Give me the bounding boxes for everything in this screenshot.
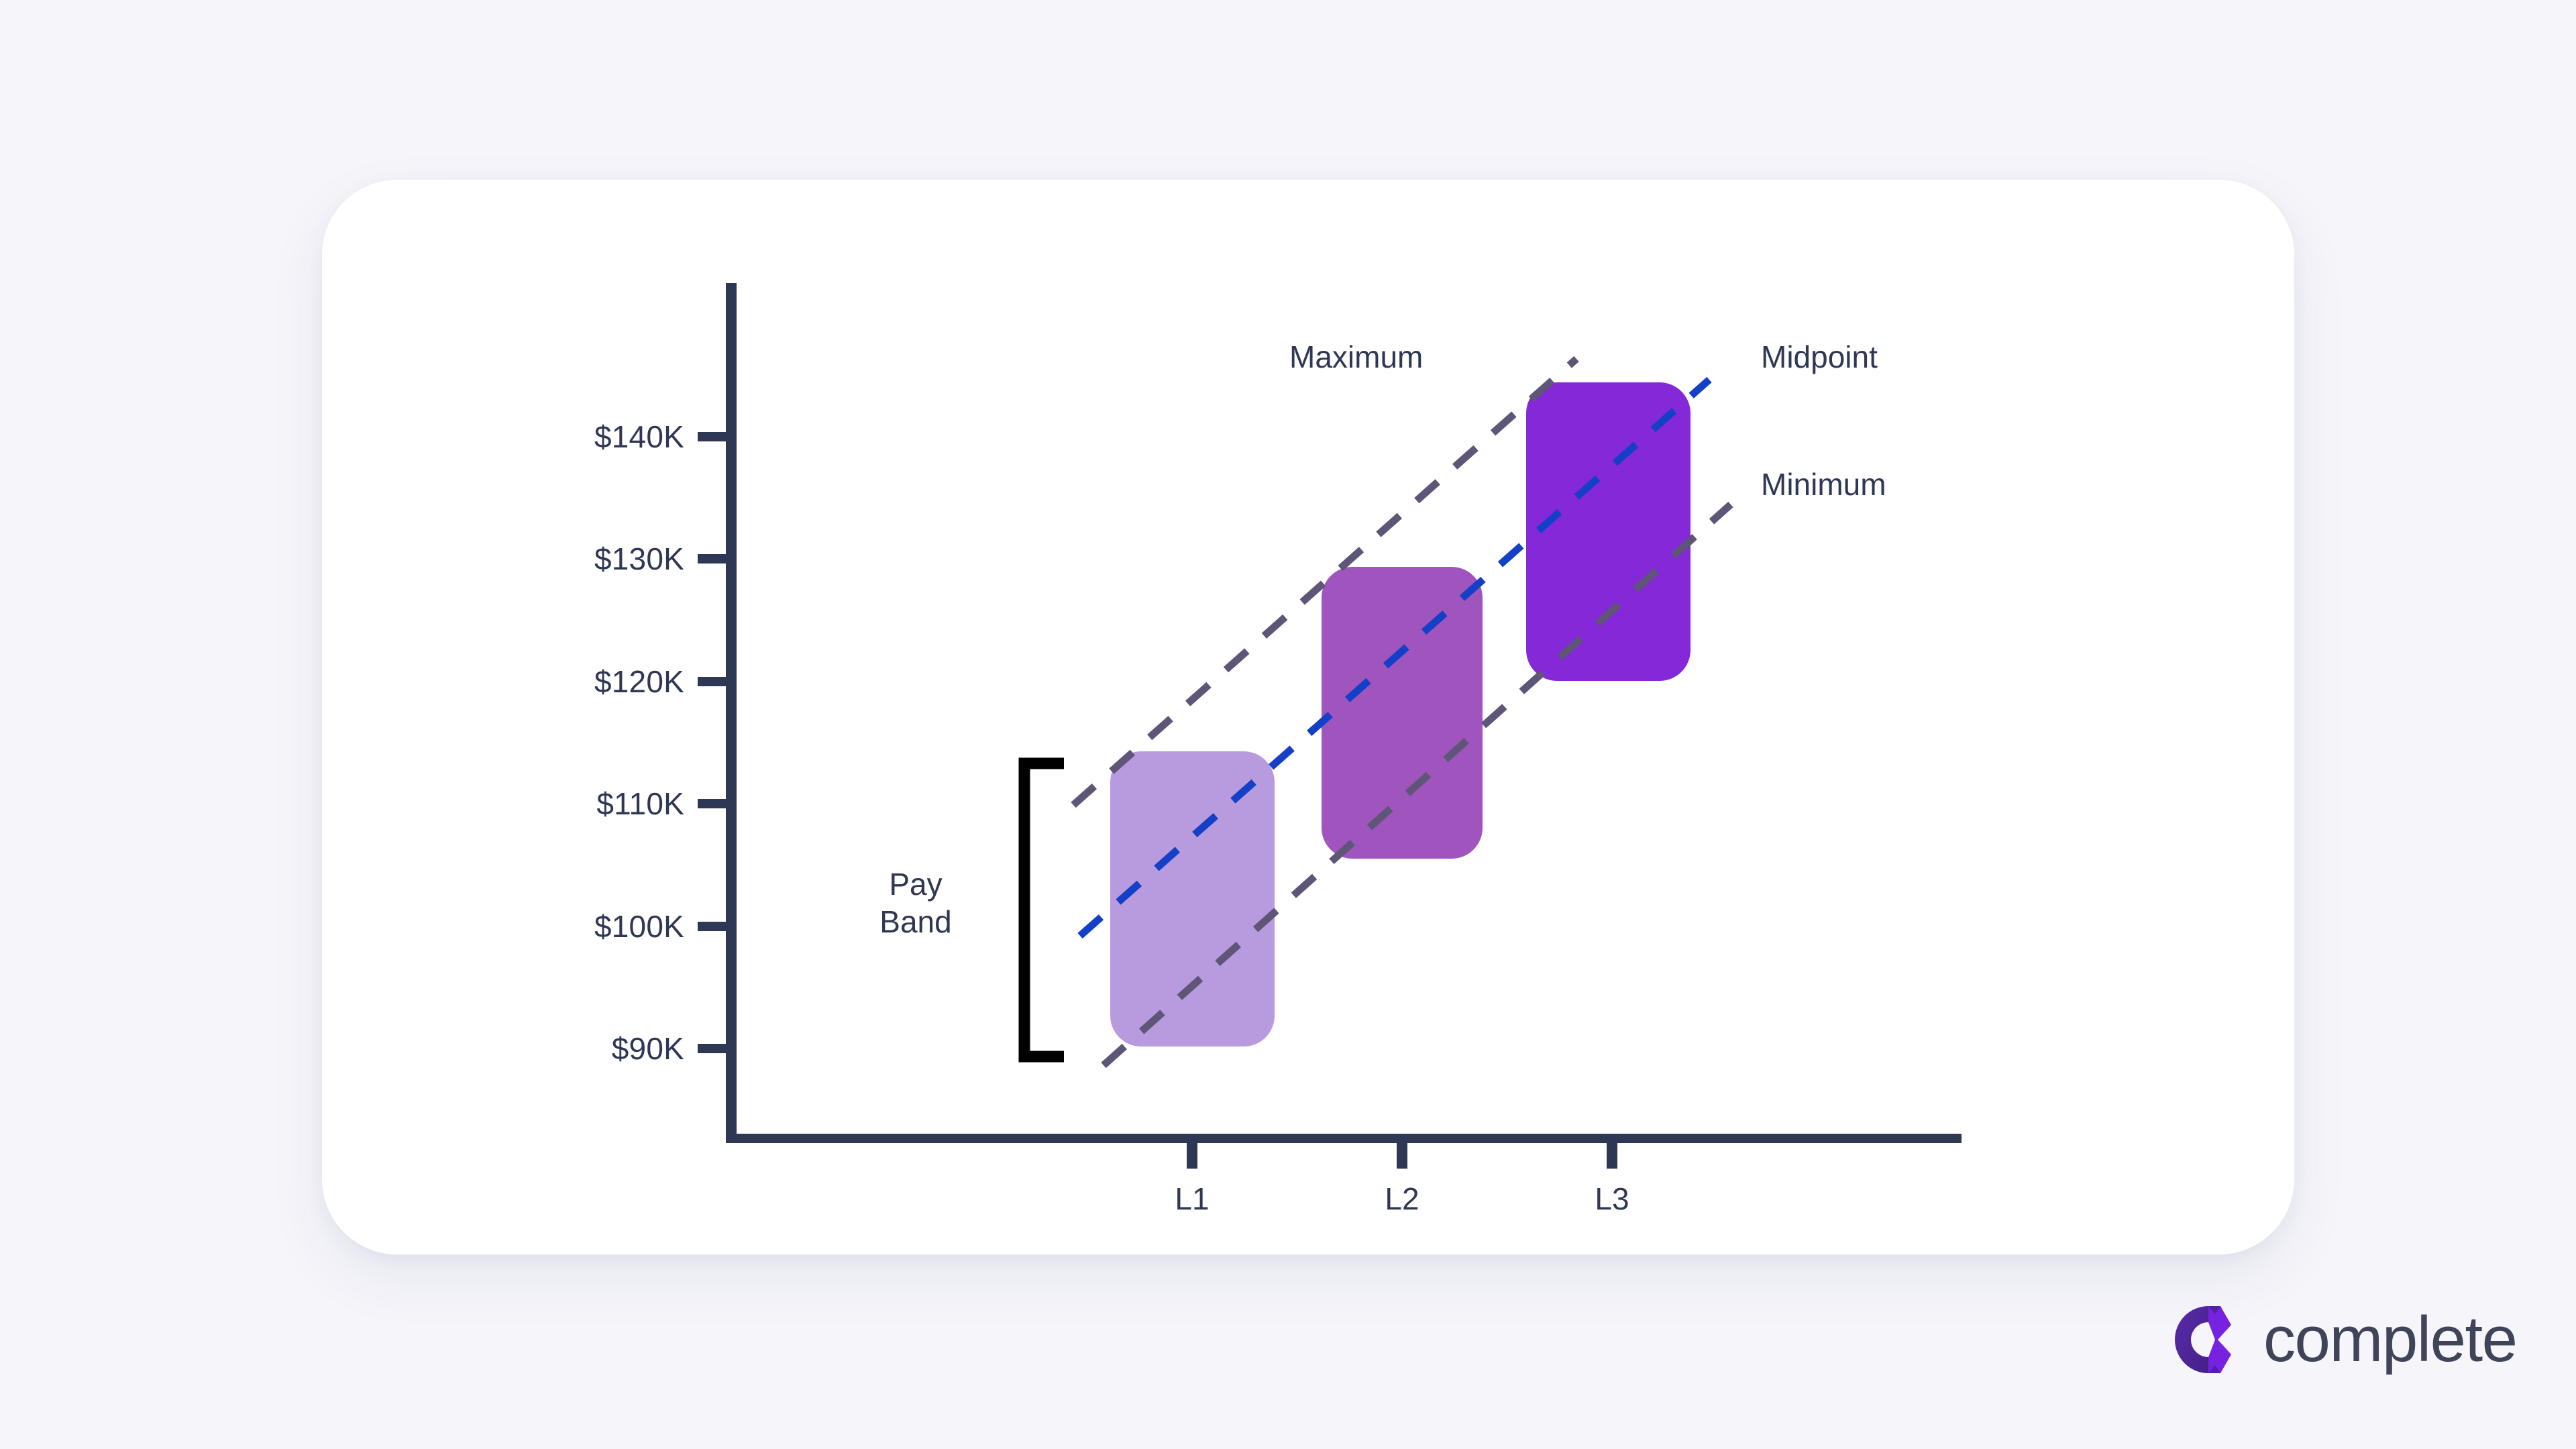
y-tick-100k <box>698 922 730 931</box>
screenshot-root: $140K $130K $120K $110K $100K $90K L1 L2… <box>0 0 2576 1449</box>
chart-card: $140K $130K $120K $110K $100K $90K L1 L2… <box>322 180 2294 1254</box>
y-axis-label-90k: $90K <box>523 1030 684 1067</box>
annotation-midpoint: Midpoint <box>1761 339 1878 375</box>
annotation-pay-band: Pay Band <box>815 865 1016 941</box>
x-tick-l1 <box>1187 1142 1197 1169</box>
x-axis-label-l2: L2 <box>1385 1181 1419 1217</box>
y-axis-line <box>726 283 737 1142</box>
y-tick-120k <box>698 677 730 686</box>
y-tick-140k <box>698 432 730 441</box>
bar-l2[interactable] <box>1322 567 1483 859</box>
y-tick-90k <box>698 1044 730 1053</box>
x-tick-l2 <box>1397 1142 1407 1169</box>
complete-c-logomark-icon <box>2173 1305 2243 1375</box>
pay-band-chart: $140K $130K $120K $110K $100K $90K L1 L2… <box>322 180 2294 1254</box>
pay-band-bracket <box>1024 763 1064 1057</box>
y-axis-label-130k: $130K <box>523 541 684 577</box>
annotation-minimum: Minimum <box>1761 466 1886 502</box>
bar-l1[interactable] <box>1110 751 1275 1046</box>
bar-series <box>1110 382 1690 1046</box>
x-axis-label-l1: L1 <box>1175 1181 1209 1217</box>
bar-l3[interactable] <box>1526 382 1690 681</box>
x-tick-l3 <box>1607 1142 1617 1169</box>
y-axis-label-100k: $100K <box>523 908 684 945</box>
y-tick-130k <box>698 554 730 563</box>
y-tick-110k <box>698 799 730 808</box>
x-axis-label-l3: L3 <box>1595 1181 1629 1217</box>
annotation-maximum: Maximum <box>1289 339 1423 375</box>
brand-logo: complete <box>2173 1305 2517 1375</box>
brand-wordmark: complete <box>2263 1307 2517 1372</box>
y-axis-label-140k: $140K <box>523 419 684 455</box>
x-axis-line <box>726 1134 1962 1143</box>
y-axis-label-120k: $120K <box>523 663 684 700</box>
y-axis-label-110k: $110K <box>523 786 684 822</box>
